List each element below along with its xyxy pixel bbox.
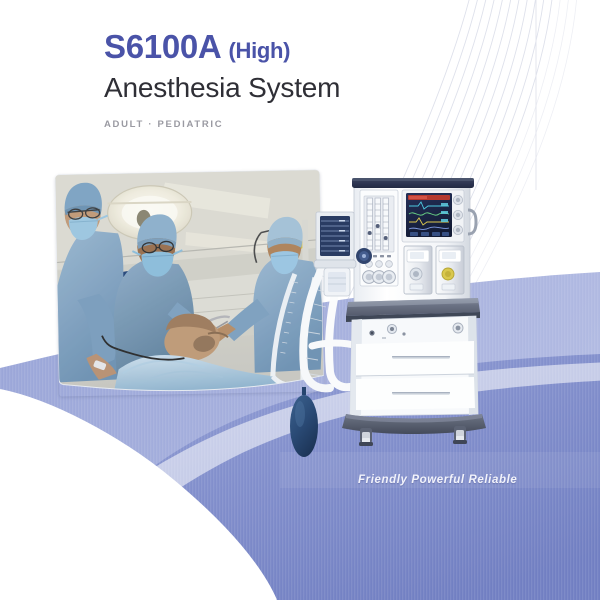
monitor-knobs — [453, 195, 462, 234]
caster-right — [453, 426, 467, 444]
product-type: Anesthesia System — [104, 71, 524, 105]
flowmeter-bank — [360, 190, 398, 286]
machine-top-bar — [352, 178, 474, 188]
cart-drawer-1 — [356, 341, 474, 376]
product-model-line: S6100A(High) — [104, 28, 524, 70]
breathing-bag — [290, 387, 318, 457]
brochure-tagline: Friendly Powerful Reliable — [358, 474, 517, 486]
vertical-rule-decoration — [534, 0, 538, 190]
caster-left — [359, 428, 373, 446]
cart-body — [350, 316, 478, 416]
brochure-page: S6100A(High) Anesthesia System ADULT · P… — [0, 0, 600, 600]
anesthesia-machine — [282, 176, 497, 461]
product-variant: (High) — [228, 38, 290, 63]
audience-label: ADULT · PEDIATRIC — [104, 119, 524, 130]
gas-control-knobs — [363, 271, 396, 284]
brochure-header: S6100A(High) Anesthesia System ADULT · P… — [104, 28, 524, 130]
cart-drawer-2 — [356, 377, 475, 410]
product-model: S6100A — [104, 28, 221, 65]
